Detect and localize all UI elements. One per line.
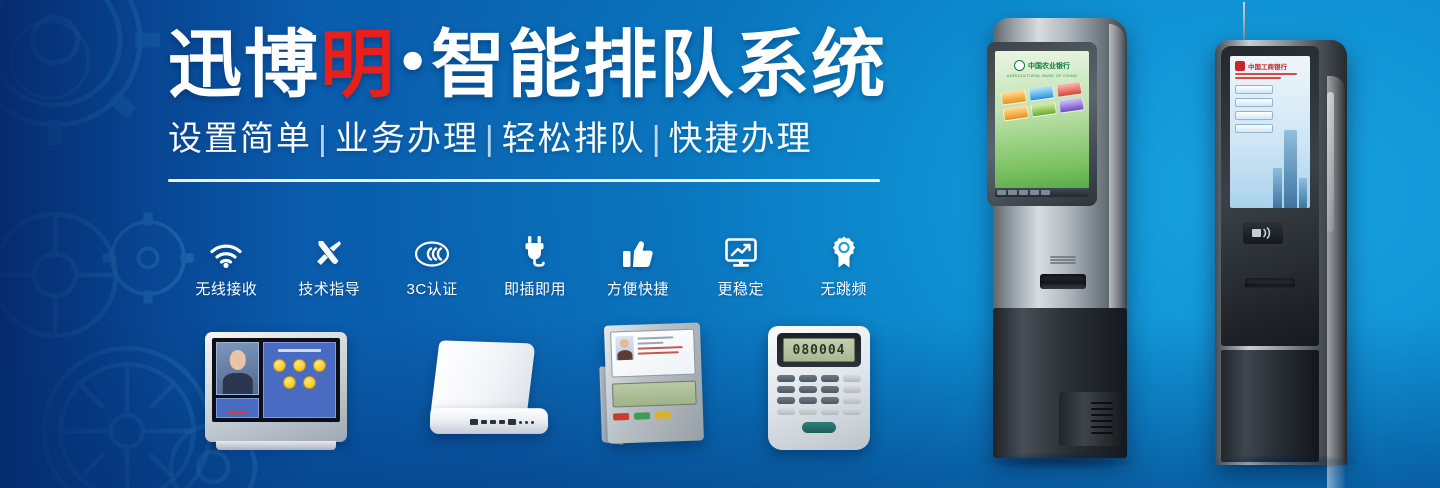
feature-label: 更稳定 (717, 278, 764, 299)
feature-item-wireless: 无线接收 (175, 228, 278, 299)
feature-item-plugplay: 即插即用 (484, 228, 587, 299)
rating-stars (216, 398, 259, 418)
kiosk-side-strip (1327, 92, 1334, 232)
headline-block: 迅博明•智能排队系统 设置简单|业务办理|轻松排队|快捷办理 (168, 28, 898, 182)
keypad-key[interactable] (843, 397, 861, 404)
menu-tile[interactable] (1000, 89, 1027, 105)
ticket-dispenser-slot (1040, 274, 1086, 289)
ticket-dispenser-slot (1245, 278, 1295, 289)
title-accent-char: 明 (320, 22, 396, 108)
screen-left-panel (216, 342, 259, 418)
yellow-button[interactable] (655, 411, 671, 419)
staff-photo (216, 342, 259, 395)
power-jack (531, 421, 534, 424)
menu-tile[interactable] (1055, 82, 1082, 98)
audio-jack (519, 421, 522, 424)
bank-logo: 中国工商银行 (1235, 61, 1305, 71)
feature-item-nohop: 无跳频 (792, 228, 895, 299)
building-illustration (1273, 130, 1307, 208)
kiosk-lower-body (1221, 350, 1319, 462)
ethernet-port (508, 419, 516, 425)
kiosk-menu-list[interactable] (1235, 85, 1273, 133)
feature-label: 无跳频 (820, 278, 867, 299)
menu-item[interactable] (1235, 124, 1273, 133)
keypad-key[interactable] (799, 386, 817, 393)
keypad-key[interactable] (777, 408, 795, 415)
subtitle-item-3: 轻松排队 (502, 120, 646, 158)
usb-port (481, 420, 487, 424)
slot-label-marks (1050, 256, 1076, 264)
host-base (430, 408, 549, 434)
keypad-key[interactable] (777, 386, 795, 393)
keypad-key[interactable] (799, 397, 817, 404)
screen-right-panel (263, 342, 336, 418)
menu-item[interactable] (1235, 111, 1273, 120)
product-evaluator-monitor (205, 332, 347, 442)
keypad-enter-button[interactable] (802, 422, 836, 433)
product-counter-terminal (598, 322, 714, 448)
queue-number-value: 080004 (793, 343, 846, 358)
ethernet-port (470, 419, 478, 425)
subtitle: 设置简单|业务办理|轻松排队|快捷办理 (168, 120, 898, 159)
terminal-lcd-display (612, 381, 697, 408)
host-panel (430, 340, 535, 417)
kiosk-abc: 中国农业银行 AGRICULTURAL BANK OF CHINA (975, 18, 1150, 470)
monitor-screen (212, 338, 340, 422)
keypad-key[interactable] (843, 408, 861, 415)
title-dot: • (396, 33, 431, 93)
staff-photo (615, 336, 634, 361)
menu-item[interactable] (1235, 98, 1273, 107)
bank-name: 中国农业银行 (1028, 61, 1070, 71)
headline-bar (1235, 73, 1297, 75)
kiosk-menu-tiles[interactable] (1000, 82, 1084, 122)
product-showcase: 080004 (0, 318, 920, 458)
feature-label: 方便快捷 (607, 278, 669, 299)
keypad-key[interactable] (777, 397, 795, 404)
feature-list: 无线接收 技术指导 (175, 228, 895, 299)
emoji-rating-row (270, 359, 329, 389)
subtitle-item-4: 快捷办理 (669, 120, 813, 158)
keypad-key[interactable] (821, 386, 839, 393)
feature-label: 3C认证 (407, 278, 458, 299)
green-button[interactable] (634, 412, 650, 420)
emoji-face (313, 359, 326, 372)
monitor-bezel (205, 332, 347, 442)
emoji-face (293, 359, 306, 372)
feature-label: 无线接收 (195, 278, 257, 299)
feature-label: 即插即用 (504, 278, 566, 299)
terminal-body (604, 322, 704, 443)
bank-name-english: AGRICULTURAL BANK OF CHINA (1007, 73, 1077, 78)
gear-icon (0, 0, 180, 165)
staff-info-lines (637, 334, 690, 372)
kiosk-column: 中国工商银行 (1215, 40, 1347, 465)
keypad-key[interactable] (821, 408, 839, 415)
feature-item-convenient: 方便快捷 (586, 228, 689, 299)
tools-icon (306, 228, 352, 268)
keypad-key[interactable] (821, 375, 839, 382)
thumbs-up-icon (615, 228, 661, 268)
page-title: 迅博明•智能排队系统 (168, 28, 898, 102)
feature-label: 技术指导 (298, 278, 360, 299)
emoji-face (273, 359, 286, 372)
kiosk-screen-housing: 中国农业银行 AGRICULTURAL BANK OF CHINA (987, 42, 1097, 206)
promo-banner: 迅博明•智能排队系统 设置简单|业务办理|轻松排队|快捷办理 无线接收 (0, 0, 1440, 488)
kiosk-icbc: 中国工商银行 (1205, 10, 1370, 470)
keypad-key[interactable] (799, 408, 817, 415)
title-part-2: 智能排队系统 (431, 22, 887, 108)
award-medal-icon (821, 228, 867, 268)
title-part-1: 迅博 (168, 22, 320, 108)
monitor-chart-icon (718, 228, 764, 268)
menu-tile[interactable] (1030, 101, 1057, 117)
bank-logo: 中国农业银行 (1014, 60, 1070, 71)
headline-bar (1235, 77, 1281, 79)
terminal-button-row[interactable] (613, 411, 697, 421)
menu-tile[interactable] (1028, 85, 1055, 101)
subtitle-item-2: 业务办理 (335, 120, 479, 158)
emoji-face (303, 376, 316, 389)
menu-tile[interactable] (1002, 105, 1029, 121)
bank-logo-mark (1014, 60, 1025, 71)
feature-item-3c: 3C认证 (381, 228, 484, 299)
subtitle-separator: | (646, 120, 669, 158)
subtitle-separator: | (312, 120, 335, 158)
keypad-lcd-display: 080004 (783, 338, 855, 362)
bank-logo-mark (1235, 61, 1245, 71)
card-reader-icon[interactable] (1243, 222, 1283, 244)
host-port-row (470, 419, 534, 425)
usb-port (490, 420, 496, 424)
emoji-face (283, 376, 296, 389)
keypad-button-grid[interactable] (777, 375, 861, 415)
red-button[interactable] (613, 413, 629, 421)
subtitle-item-1: 设置简单 (168, 120, 312, 158)
bank-name: 中国工商银行 (1248, 61, 1287, 71)
product-keypad-terminal: 080004 (768, 326, 870, 450)
kiosk-touchscreen[interactable]: 中国农业银行 AGRICULTURAL BANK OF CHINA (995, 51, 1089, 197)
kiosk-ground-shadow (981, 452, 1141, 470)
kiosk-screen-housing: 中国工商银行 (1221, 46, 1319, 346)
staff-id-card (610, 329, 696, 378)
keypad-display-housing: 080004 (777, 333, 861, 367)
wifi-icon (203, 228, 249, 268)
keypad-key[interactable] (799, 375, 817, 382)
product-wireless-host (430, 342, 548, 438)
power-plug-icon (512, 228, 558, 268)
monitor-stand (216, 441, 336, 450)
menu-tile[interactable] (1058, 97, 1085, 113)
audio-jack (525, 421, 528, 424)
kiosk-ground-shadow (1209, 454, 1359, 470)
screen-heading-bar (278, 349, 320, 352)
menu-item[interactable] (1235, 85, 1273, 94)
keypad-key[interactable] (821, 397, 839, 404)
subtitle-separator: | (479, 120, 502, 158)
keypad-key[interactable] (777, 375, 795, 382)
ccc-cert-icon (409, 228, 455, 268)
keypad-key[interactable] (843, 386, 861, 393)
kiosk-touchscreen[interactable]: 中国工商银行 (1230, 56, 1310, 208)
feature-item-stable: 更稳定 (689, 228, 792, 299)
keypad-body: 080004 (768, 326, 870, 450)
keypad-key[interactable] (843, 375, 861, 382)
feature-item-support: 技术指导 (278, 228, 381, 299)
kiosk-taskbar (995, 188, 1089, 197)
gear-icon (0, 0, 130, 140)
vent-grille (1091, 402, 1113, 438)
divider-line (168, 179, 880, 182)
kiosk-base-foot (1059, 392, 1121, 446)
usb-port (499, 420, 505, 424)
